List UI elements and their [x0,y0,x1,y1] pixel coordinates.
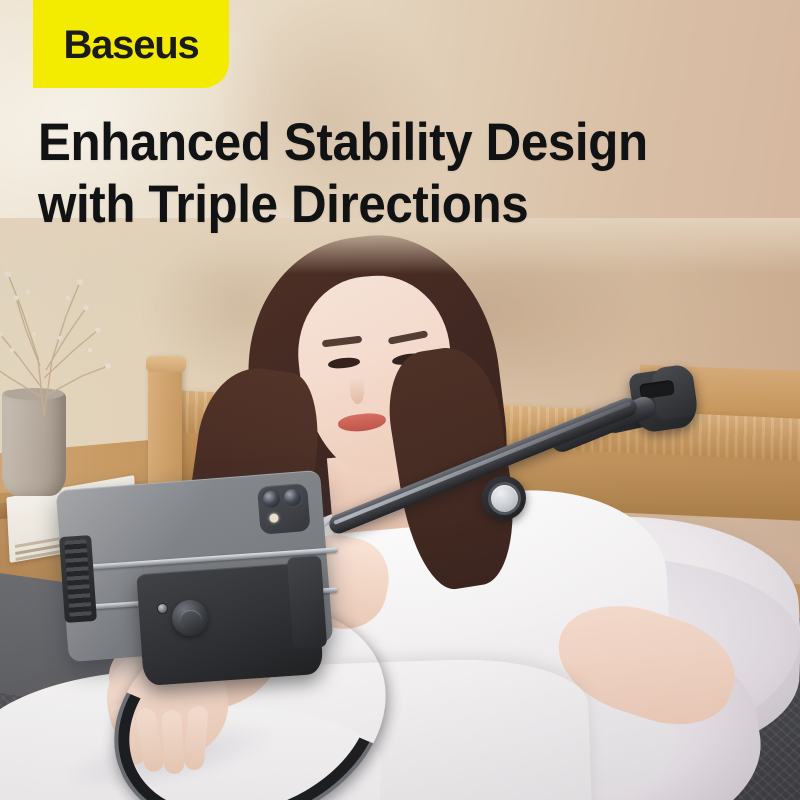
side-grip-left [59,535,97,623]
dried-flowers [0,238,142,418]
lifestyle-photo [0,218,800,800]
brand-logo-badge: Baseus [33,0,229,88]
side-grip-right [287,555,327,649]
rotation-knob [482,476,526,520]
camera-module [257,483,311,535]
ball-joint-ring [180,610,202,632]
screw [158,604,167,613]
headline-line-2: with Triple Directions [38,174,648,236]
brand-logo-text: Baseus [63,23,198,68]
camera-lens [262,490,280,508]
bed-post-cap [146,356,186,372]
product-banner: Baseus Enhanced Stability Design with Tr… [0,0,800,800]
flash-icon [269,513,279,523]
page-title: Enhanced Stability Design with Triple Di… [38,112,648,236]
knob-face [491,485,518,512]
camera-lens [283,488,301,506]
headline-line-1: Enhanced Stability Design [38,112,648,174]
